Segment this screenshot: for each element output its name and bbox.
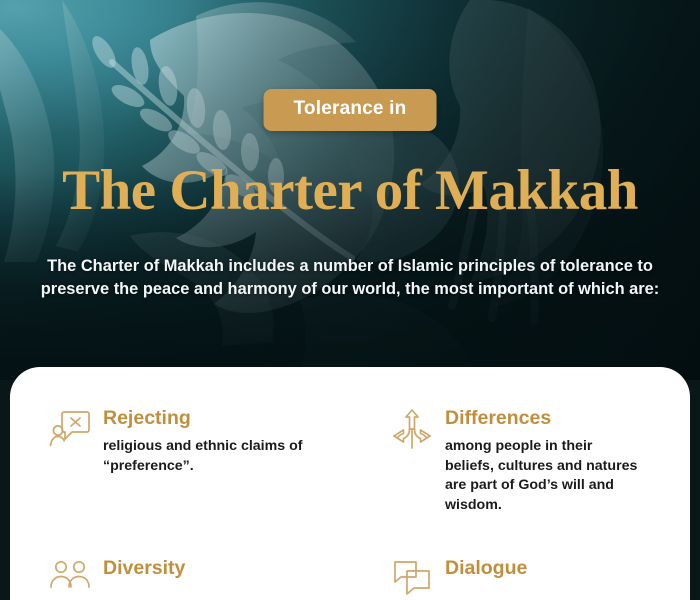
principle-title: Dialogue (445, 557, 527, 579)
principle-body: Rejecting religious and ethnic claims of… (103, 405, 318, 476)
three-way-arrows-icon (390, 407, 434, 451)
principle-text: among people in their beliefs, cultures … (445, 437, 645, 515)
principle-body: Dialogue (445, 555, 527, 587)
page-title: The Charter of Makkah (0, 162, 700, 220)
principle-text: religious and ethnic claims of “preferen… (103, 437, 318, 476)
principle-title: Differences (445, 407, 645, 429)
chat-windows-icon (390, 557, 434, 600)
principle-body: Diversity (103, 555, 185, 587)
speech-bubble-reject-icon (48, 407, 92, 451)
principle-item-differences: Differences among people in their belief… (390, 405, 668, 555)
badge-label: Tolerance in (294, 98, 407, 119)
principle-item-diversity: Diversity (48, 555, 378, 600)
principle-title: Rejecting (103, 407, 318, 429)
principles-grid: Rejecting religious and ethnic claims of… (48, 405, 668, 600)
hero-subtitle: The Charter of Makkah includes a number … (34, 255, 666, 300)
principle-body: Differences among people in their belief… (445, 405, 645, 515)
principles-card: Rejecting religious and ethnic claims of… (10, 367, 690, 600)
principle-item-rejecting: Rejecting religious and ethnic claims of… (48, 405, 378, 555)
infographic-page: Tolerance in The Charter of Makkah The C… (0, 0, 700, 600)
principle-title: Diversity (103, 557, 185, 579)
principle-item-dialogue: Dialogue (390, 555, 668, 600)
tolerance-badge: Tolerance in (264, 89, 437, 131)
two-people-icon (48, 557, 92, 600)
hero-banner: Tolerance in The Charter of Makkah The C… (0, 0, 700, 380)
